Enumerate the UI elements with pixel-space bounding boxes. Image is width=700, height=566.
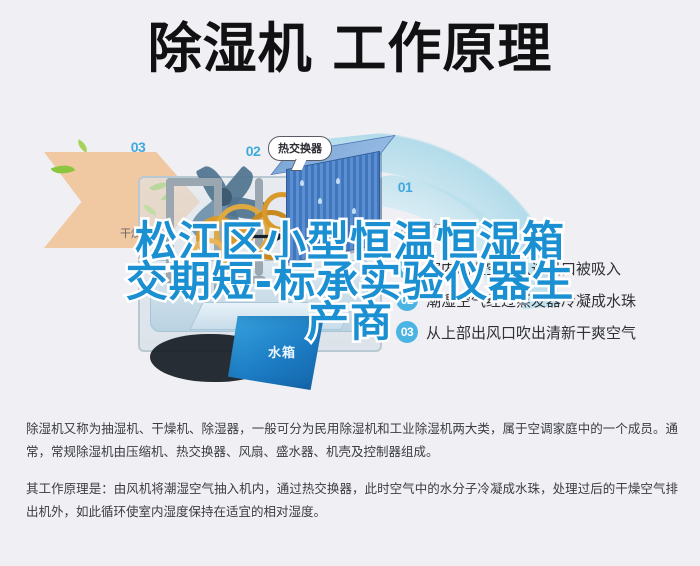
condensation-droplet-icon [344,236,348,242]
legend-list: 01 室内潮湿空气从进风口被吸入 02 潮湿空气经过蒸发器冷凝成水珠 03 从上… [396,252,696,348]
page-title-bar: 除湿机 工作原理 [0,22,700,76]
heat-exchanger-callout: 热交换器 [268,136,332,161]
refrigerant-pipe [166,178,220,186]
compressor-coil [190,238,228,276]
legend-label: 室内潮湿空气从进风口被吸入 [426,258,621,279]
legend-number: 03 [396,321,418,343]
legend-item: 02 潮湿空气经过蒸发器冷凝成水珠 [396,284,696,316]
legend-item: 03 从上部出风口吹出清新干爽空气 [396,316,696,348]
diagram-marker-01: 01 [392,174,418,200]
refrigerant-pipe [166,276,266,284]
description-paragraph-2: 其工作原理是：由风机将潮湿空气抽入机内，通过热交换器，此时空气中的水分子冷凝成水… [26,478,678,524]
diagram-marker-03: 03 [125,134,151,160]
condensation-droplet-icon [318,198,322,204]
legend-item: 01 室内潮湿空气从进风口被吸入 [396,252,696,284]
legend-number: 02 [396,289,418,311]
description-paragraph-1: 除湿机又称为抽湿机、干燥机、除湿器，一般可分为民用除湿机和工业除湿机两大类，属于… [26,418,678,464]
diagram-marker-02: 02 [240,138,266,164]
condensation-droplet-icon [300,180,304,186]
legend-label: 潮湿空气经过蒸发器冷凝成水珠 [426,290,636,311]
legend-number: 01 [396,257,418,279]
legend-label: 从上部出风口吹出清新干爽空气 [426,322,636,343]
leaf-icon [75,139,90,152]
condensation-droplet-icon [310,224,314,230]
humid-air-label: 潮湿空气 [400,220,444,236]
refrigerant-pipe [166,178,174,282]
condensation-droplet-icon [336,178,340,184]
description-section: 除湿机又称为抽湿机、干燥机、除湿器，一般可分为民用除湿机和工业除湿机两大类，属于… [26,418,678,538]
condensation-droplet-icon [352,208,356,214]
page-title: 除湿机 工作原理 [148,22,553,76]
water-tank-label: 水箱 [268,342,296,361]
